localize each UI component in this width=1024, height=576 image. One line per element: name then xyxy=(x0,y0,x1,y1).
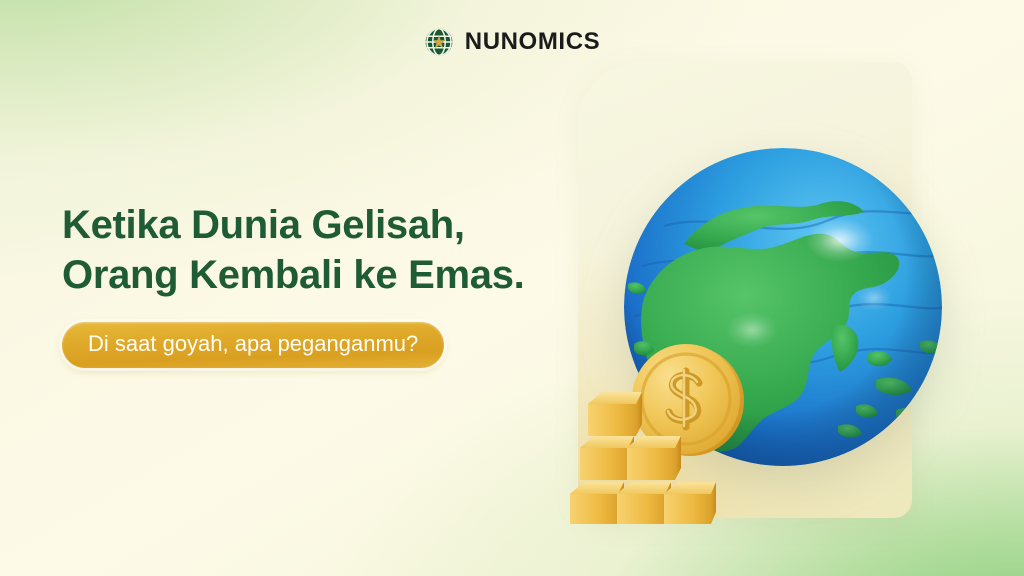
page-title: Ketika Dunia Gelisah, Orang Kembali ke E… xyxy=(62,200,542,300)
globe-grid-star-icon xyxy=(424,27,454,57)
brand-logo[interactable]: NUNOMICS xyxy=(0,27,1024,57)
illustration-card xyxy=(578,62,912,518)
copy-block: Ketika Dunia Gelisah, Orang Kembali ke E… xyxy=(62,200,542,368)
headline-line-1: Ketika Dunia Gelisah, xyxy=(62,200,542,250)
brand-name: NUNOMICS xyxy=(465,30,600,54)
headline-line-2: Orang Kembali ke Emas. xyxy=(62,250,542,300)
promo-banner: NUNOMICS Ketika Dunia Gelisah, Orang Kem… xyxy=(0,0,1024,576)
subheadline-pill: Di saat goyah, apa peganganmu? xyxy=(62,322,444,368)
